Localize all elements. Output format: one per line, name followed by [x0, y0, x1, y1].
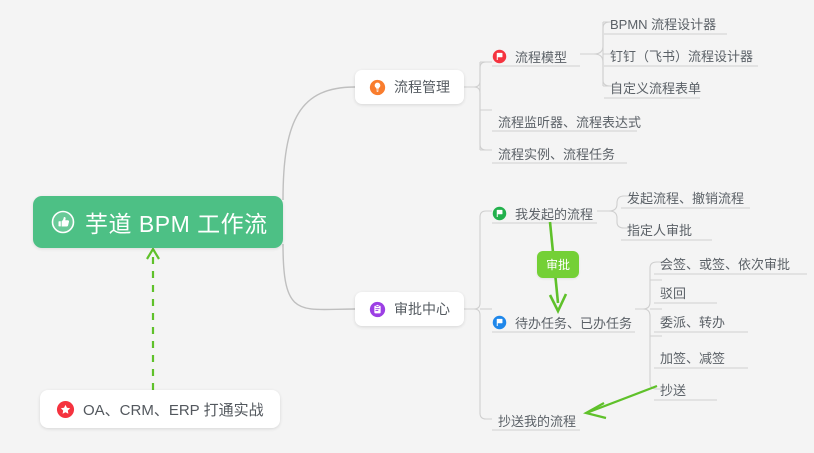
branch-label-flow-management: 流程管理	[394, 77, 450, 97]
flag-icon	[492, 49, 507, 64]
leaf-bpmn-designer[interactable]: BPMN 流程设计器	[604, 12, 722, 38]
node-my-initiated-flow[interactable]: 我发起的流程	[492, 202, 599, 228]
leaf-flow-instance-task[interactable]: 流程实例、流程任务	[492, 142, 621, 168]
leaf-custom-flow-form[interactable]: 自定义流程表单	[604, 76, 707, 102]
root-label: 芋道 BPM 工作流	[85, 205, 268, 239]
branch-node-flow-management[interactable]: 流程管理	[355, 70, 464, 104]
node-flow-model[interactable]: 流程模型	[492, 45, 573, 71]
mindmap-canvas: 芋道 BPM 工作流 流程管理 流程模型 BPMN 流程设计器 钉钉（飞书）流程…	[0, 0, 814, 453]
leaf-cc[interactable]: 抄送	[654, 378, 692, 404]
leaf-cc-to-me-flow[interactable]: 抄送我的流程	[492, 409, 582, 435]
leaf-flow-listener-expression[interactable]: 流程监听器、流程表达式	[492, 110, 647, 136]
leaf-dingtalk-feishu-designer-label: 钉钉（飞书）流程设计器	[610, 49, 753, 64]
node-todo-done-task-label: 待办任务、已办任务	[515, 313, 632, 332]
lightbulb-icon	[369, 79, 386, 96]
leaf-reject[interactable]: 驳回	[654, 281, 692, 307]
leaf-assignee-approval-label: 指定人审批	[627, 223, 692, 238]
star-circle-icon	[56, 400, 75, 419]
thumbs-up-icon	[51, 210, 75, 234]
leaf-add-remove-sign-label: 加签、减签	[660, 351, 725, 366]
leaf-start-cancel-flow[interactable]: 发起流程、撤销流程	[621, 186, 750, 212]
leaf-flow-listener-expression-label: 流程监听器、流程表达式	[498, 115, 641, 130]
link-root-to-flow-management	[283, 87, 355, 200]
arrowhead-integration	[147, 249, 159, 259]
node-integration-practice[interactable]: OA、CRM、ERP 打通实战	[40, 390, 280, 428]
flag-icon	[492, 206, 507, 221]
leaf-reject-label: 驳回	[660, 286, 686, 301]
flag-icon	[492, 315, 507, 330]
link-approval-corner-top	[466, 211, 492, 309]
node-todo-done-task[interactable]: 待办任务、已办任务	[492, 311, 638, 337]
approve-badge[interactable]: 审批	[537, 251, 579, 278]
clipboard-icon	[369, 301, 386, 318]
branch-label-approval-center: 审批中心	[394, 299, 450, 319]
link-flow-management-corner-bottom	[474, 87, 492, 150]
leaf-assignee-approval[interactable]: 指定人审批	[621, 218, 698, 244]
green-arrow-cc-line	[589, 386, 657, 412]
green-arrow-approve-head	[550, 294, 566, 311]
leaf-delegate-transfer[interactable]: 委派、转办	[654, 310, 731, 336]
node-flow-model-label: 流程模型	[515, 47, 567, 66]
leaf-cc-label: 抄送	[660, 383, 686, 398]
node-integration-practice-label: OA、CRM、ERP 打通实战	[83, 399, 264, 420]
leaf-countersign-label: 会签、或签、依次审批	[660, 257, 790, 272]
leaf-cc-to-me-flow-label: 抄送我的流程	[498, 414, 576, 429]
leaf-add-remove-sign[interactable]: 加签、减签	[654, 346, 731, 372]
link-approval-corner-bottom	[474, 309, 492, 419]
leaf-custom-flow-form-label: 自定义流程表单	[610, 81, 701, 96]
link-root-to-approval-center	[283, 244, 355, 310]
leaf-start-cancel-flow-label: 发起流程、撤销流程	[627, 191, 744, 206]
branch-node-approval-center[interactable]: 审批中心	[355, 292, 464, 326]
root-node[interactable]: 芋道 BPM 工作流	[33, 196, 283, 248]
leaf-bpmn-designer-label: BPMN 流程设计器	[610, 17, 716, 32]
leaf-flow-instance-task-label: 流程实例、流程任务	[498, 147, 615, 162]
green-arrow-cc-head	[586, 403, 606, 418]
leaf-countersign-orsign-sequential[interactable]: 会签、或签、依次审批	[654, 252, 796, 278]
node-my-initiated-flow-label: 我发起的流程	[515, 204, 593, 223]
leaf-delegate-transfer-label: 委派、转办	[660, 315, 725, 330]
leaf-dingtalk-feishu-designer[interactable]: 钉钉（飞书）流程设计器	[604, 44, 759, 70]
link-flow-management-corner-top	[466, 62, 492, 87]
